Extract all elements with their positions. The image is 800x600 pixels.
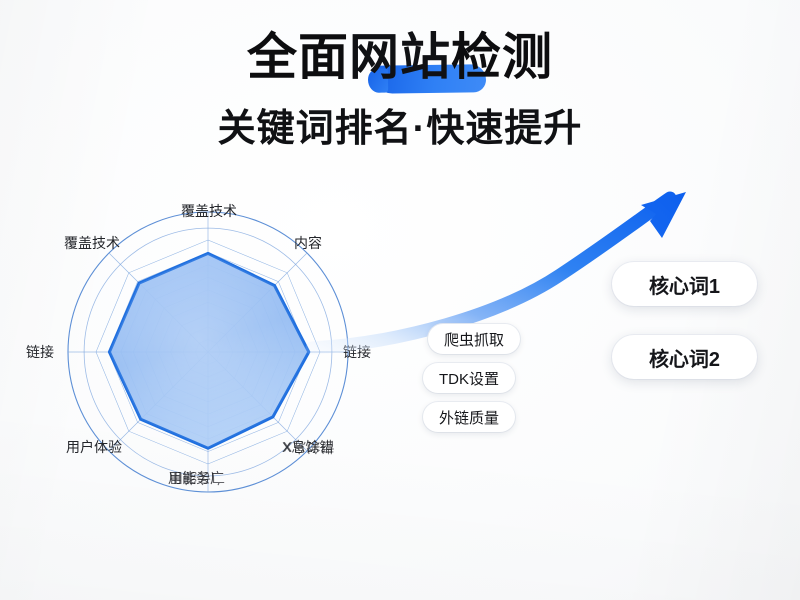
axis-label-right: 链接 — [343, 345, 371, 359]
axis-label-bottom: 用能务广 用能务广 — [168, 471, 224, 485]
title-part-before: 全面 — [247, 29, 349, 85]
axis-label-top-left: 覆盖技术 — [64, 236, 120, 250]
axis-label-top-right: 内容 — [294, 236, 322, 250]
keyword-pill-1[interactable]: 核心词1 — [612, 262, 757, 306]
keyword-pill-2[interactable]: 核心词2 — [612, 335, 757, 379]
feature-pill-backlink[interactable]: 外链质量 — [423, 402, 515, 432]
page-subtitle: 关键词排名·快速提升 — [0, 97, 800, 152]
title-part-after: 检测 — [451, 29, 553, 85]
radar-chart: 覆盖技术 内容 链接 X息馀错 X息馀错 用能务广 用能务广 用户体验 链接 覆… — [18, 190, 418, 510]
poster-canvas: 全面网站检测 关键词排名·快速提升 覆盖技术 内容 链接 — [0, 0, 800, 600]
page-title: 全面网站检测 — [247, 30, 553, 84]
axis-label-bottom-left: 用户体验 — [66, 440, 122, 454]
headline-block: 全面网站检测 关键词排名·快速提升 — [0, 30, 800, 152]
axis-label-left: 链接 — [26, 345, 54, 359]
axis-label-bottom-right: X息馀错 X息馀错 — [282, 440, 333, 454]
feature-pill-crawl[interactable]: 爬虫抓取 — [428, 324, 520, 354]
feature-pill-tdk[interactable]: TDK设置 — [423, 363, 515, 393]
title-part-highlight: 网站 — [349, 29, 451, 85]
arrow-head — [641, 192, 686, 238]
axis-label-top: 覆盖技术 — [181, 204, 237, 218]
